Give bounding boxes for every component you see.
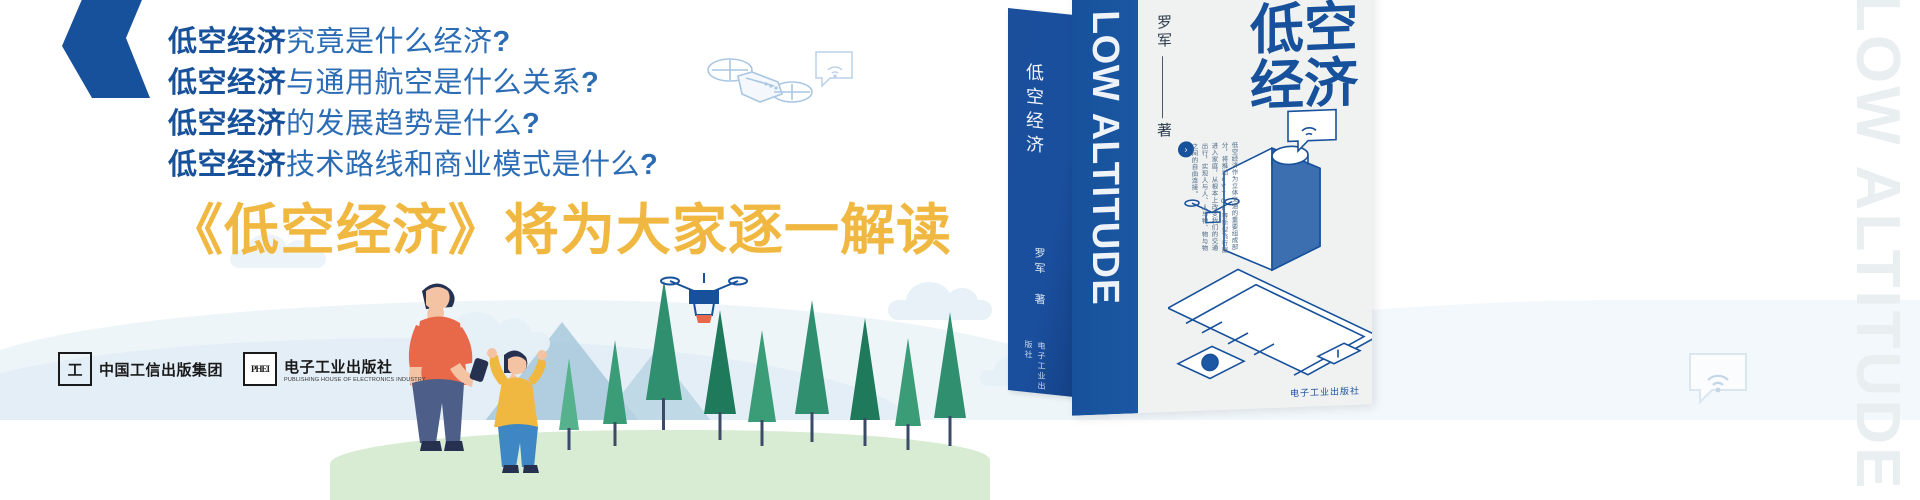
question-line-4: 低空经济技术路线和商业模式是什么?: [168, 145, 968, 186]
book-spine-title: 低空经济: [1022, 61, 1048, 160]
question-4-highlight: 低空经济: [168, 149, 286, 181]
pine-tree-icon: [790, 300, 834, 442]
book-cover-blue-band: LOW ALTITUDE: [1072, 0, 1138, 416]
main-headline: 《低空经济》将为大家逐一解读: [168, 198, 968, 262]
book-cover-latin-title: LOW ALTITUDE: [1082, 10, 1128, 307]
phei-logo-subtitle: PUBLISHING HOUSE OF ELECTRONICS INDUSTRY: [284, 377, 426, 383]
question-3-mark: ?: [522, 108, 540, 140]
phei-logo-name: 电子工业出版社: [284, 359, 393, 376]
logo-group-phei: PHEI 电子工业出版社 PUBLISHING HOUSE OF ELECTRO…: [243, 352, 426, 386]
book-spine-publisher: 电子工业出版社: [1026, 340, 1048, 394]
question-1-highlight: 低空经济: [168, 26, 286, 58]
question-3-rest: 的发展趋势是什么: [286, 108, 522, 140]
evtol-drone-icon: [700, 40, 820, 132]
question-4-mark: ?: [640, 149, 658, 181]
cicg-logo-text: 中国工信出版集团: [99, 359, 223, 380]
book-front-cover: LOW ALTITUDE 罗军 著 低空经济: [1072, 0, 1372, 416]
delivery-drone-icon: [660, 265, 748, 333]
question-line-3: 低空经济的发展趋势是什么?: [168, 104, 968, 145]
question-2-highlight: 低空经济: [168, 67, 286, 99]
book-cover-author: 罗军: [1154, 14, 1174, 51]
question-1-rest: 究竟是什么经济: [286, 26, 493, 58]
question-2-rest: 与通用航空是什么关系: [286, 67, 581, 99]
question-3-highlight: 低空经济: [168, 108, 286, 140]
question-4-rest: 技术路线和商业模式是什么: [286, 149, 640, 181]
wifi-bubble-icon: [812, 48, 860, 92]
chevron-arrow-icon: [52, 0, 172, 104]
book-spine: 低空经济 罗军 著 电子工业出版社: [1008, 8, 1080, 398]
girl-figure: [487, 348, 547, 473]
pine-tree-icon: [846, 318, 884, 446]
book-cover-publisher: 电子工业出版社: [1290, 384, 1360, 400]
question-2-mark: ?: [581, 67, 599, 99]
phei-logo-icon: PHEI: [243, 352, 277, 386]
phei-logo-text: 电子工业出版社 PUBLISHING HOUSE OF ELECTRONICS …: [284, 356, 426, 383]
pine-tree-icon: [745, 330, 779, 446]
book-cover-blurb: 低空经济作为立体交通的重要组成部分，将推动eVTOL等新型飞行器进入家庭，从根本…: [1188, 141, 1238, 255]
publisher-logo-bar: 工 中国工信出版集团 PHEI 电子工业出版社 PUBLISHING HOUSE…: [58, 352, 426, 386]
book-spine-author: 罗军 著: [1026, 246, 1048, 309]
vertical-brand-text: LOW ALTITUDE ECONOMY: [1844, 0, 1910, 494]
promo-banner: 低空经济究竟是什么经济? 低空经济与通用航空是什么关系? 低空经济的发展趋势是什…: [0, 0, 1920, 500]
question-1-mark: ?: [493, 26, 511, 58]
pine-tree-icon: [892, 338, 924, 450]
author-divider: [1162, 56, 1163, 118]
book-mockup: 低空经济 罗军 著 电子工业出版社 LOW ALTITUDE 罗军 著 低空经济: [1008, 0, 1398, 420]
cicg-logo-icon: 工: [58, 352, 92, 386]
wifi-bubble-icon: [1684, 348, 1758, 414]
book-cover-title: 低空经济: [1238, 0, 1358, 115]
logo-group-cicg: 工 中国工信出版集团: [58, 352, 223, 386]
pine-tree-icon: [930, 312, 970, 446]
